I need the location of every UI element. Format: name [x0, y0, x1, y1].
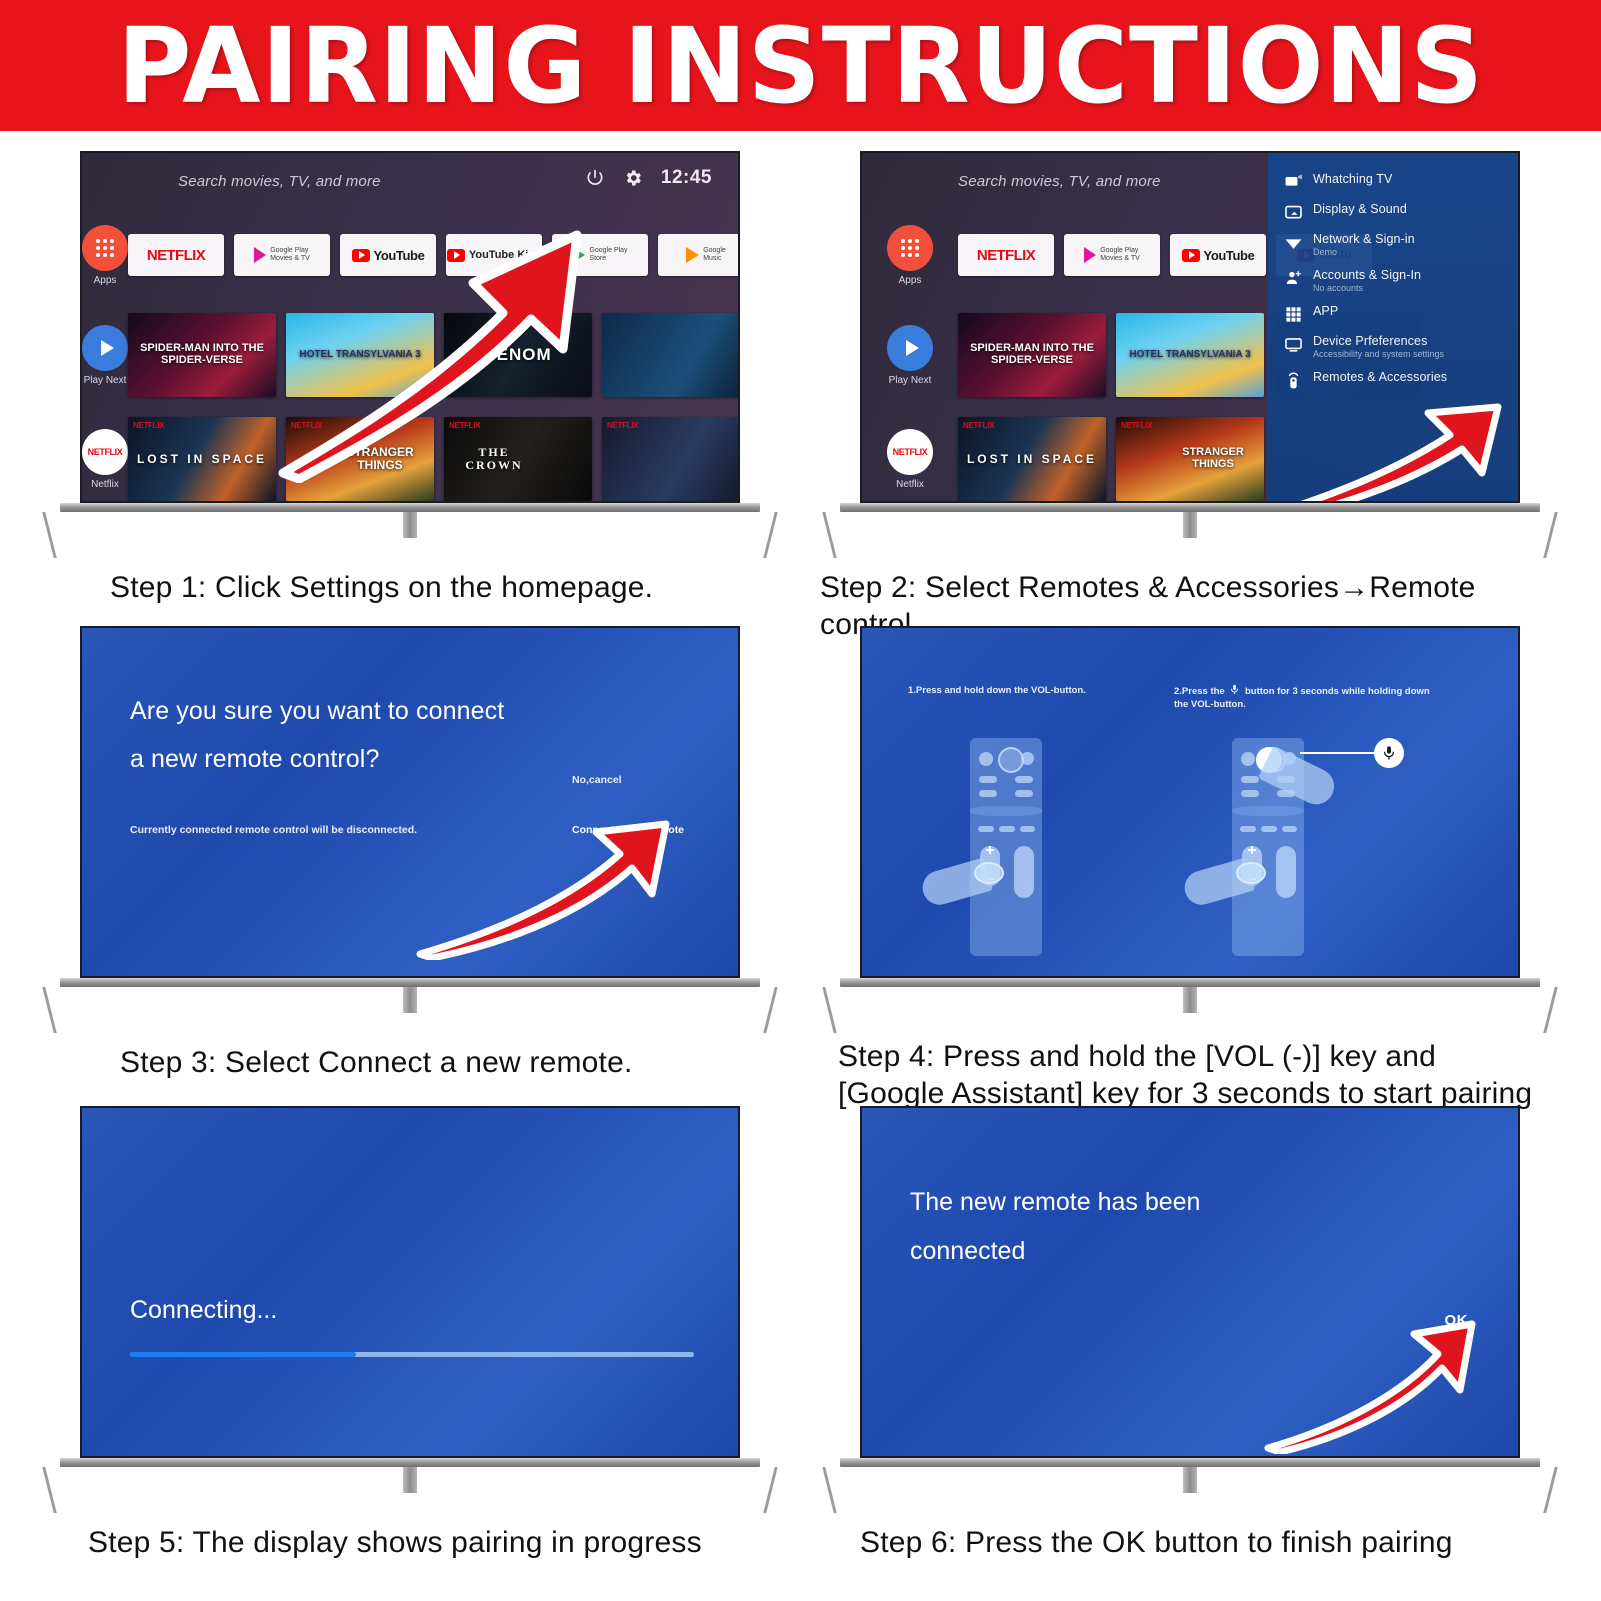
tv-bezel: [60, 1458, 760, 1467]
connecting-screen: Connecting...: [82, 1108, 738, 1456]
step-6-panel: The new remote has been connected OK Ste…: [820, 1106, 1560, 1596]
wifi-icon: [1284, 233, 1303, 252]
step-6-caption: Step 6: Press the OK button to finish pa…: [820, 1524, 1600, 1561]
netflix-wordmark: NETFLIX: [147, 247, 205, 264]
ok-button[interactable]: OK: [1445, 1312, 1469, 1329]
netflix-cards: NETFLIXLOST IN SPACE NETFLIXSTRANGER THI…: [128, 417, 740, 501]
step-3-panel: Are you sure you want to connect a new r…: [40, 626, 780, 1116]
tv-legs: [40, 512, 780, 558]
step-5-caption: Step 5: The display shows pairing in pro…: [40, 1524, 828, 1561]
tv-top-bar: Search movies, TV, and more 12:45: [82, 153, 738, 209]
netflix-wordmark: NETFLIX: [977, 247, 1035, 264]
tv-device: Search movies, TV, and more 12:45: [40, 151, 780, 558]
netflix-cards: NETFLIXLOST IN SPACE NETFLIXSTRANGER THI…: [958, 417, 1264, 501]
progress-bar: [130, 1352, 694, 1357]
menu-sublabel: No accounts: [1313, 283, 1421, 294]
step-1-panel: Search movies, TV, and more 12:45: [40, 151, 780, 641]
connect-dialog: Are you sure you want to connect a new r…: [82, 628, 738, 976]
tv-device: The new remote has been connected OK: [820, 1106, 1560, 1513]
connected-heading: The new remote has been connected: [910, 1178, 1200, 1276]
content-card[interactable]: NETFLIXSTRANGER THINGS: [286, 417, 434, 501]
cast-tv-icon: [1284, 173, 1303, 192]
play-next-rail: Play Next SPIDER-MAN INTO THE SPIDER-VER…: [82, 305, 738, 405]
cancel-button[interactable]: No,cancel: [572, 774, 622, 786]
callout-line: [1300, 752, 1378, 754]
play-movies-icon: [1084, 247, 1096, 263]
play-next-badge[interactable]: Play Next: [862, 325, 958, 386]
tv-screen: Connecting...: [80, 1106, 740, 1458]
netflix-icon: NETFLIX: [887, 429, 933, 475]
microphone-callout: [1374, 738, 1404, 768]
pairing-instruction-1: 1.Press and hold down the VOL-button.: [908, 684, 1123, 697]
youtube-icon: [352, 249, 370, 262]
tv-screen: The new remote has been connected OK: [860, 1106, 1520, 1458]
remote-illustration-2: [1232, 738, 1304, 956]
system-tray: 12:45: [585, 167, 712, 189]
content-card[interactable]: VENOM: [444, 313, 592, 397]
netflix-tag: NETFLIX: [963, 421, 994, 430]
progress-bar-fill: [130, 1352, 356, 1357]
play-next-label: Play Next: [84, 375, 127, 386]
content-card[interactable]: SPIDER-MAN INTO THE SPIDER-VERSE: [958, 313, 1106, 397]
step-1-caption: Step 1: Click Settings on the homepage.: [40, 569, 850, 606]
app-tiles: NETFLIX Google PlayMovies & TV YouTube Y…: [128, 234, 740, 276]
app-tile-youtube-kids[interactable]: YouTube Kids: [446, 234, 542, 276]
step-5-panel: Connecting... Step 5: The display shows …: [40, 1106, 780, 1596]
remote-icon: [1284, 371, 1303, 390]
play-store-icon: [572, 247, 585, 263]
apps-badge-label: Apps: [94, 275, 117, 286]
tv-screen: Search movies, TV, and more Apps NETFLIX…: [860, 151, 1520, 503]
app-tile-play-movies[interactable]: Google PlayMovies & TV: [1064, 234, 1160, 276]
connected-screen: The new remote has been connected OK: [862, 1108, 1518, 1456]
tv-legs: [820, 512, 1560, 558]
app-tile-play-store[interactable]: Google PlayStore: [552, 234, 648, 276]
tv-legs: [40, 987, 780, 1033]
netflix-icon: NETFLIX: [82, 429, 128, 475]
tv-bezel: [60, 978, 760, 987]
tv-bezel: [840, 503, 1540, 512]
content-card[interactable]: [602, 313, 740, 397]
menu-label: Accounts & Sign-In: [1313, 268, 1421, 283]
netflix-badge[interactable]: NETFLIX Netflix: [82, 429, 128, 490]
menu-item-network-signin[interactable]: Network & Sign-in Demo: [1268, 227, 1518, 263]
pairing-instruction-2: 2.Press the button for 3 seconds while h…: [1174, 684, 1444, 711]
connect-new-remote-button[interactable]: Connect a new remote: [572, 824, 684, 836]
menu-label: Device Prfeferences: [1313, 334, 1444, 349]
pairing-instruction-2-prefix: 2.Press the: [1174, 686, 1225, 697]
menu-item-remotes-accessories[interactable]: Remotes & Accessories: [1268, 365, 1518, 395]
netflix-tag: NETFLIX: [449, 421, 480, 430]
pairing-instruction-screen: 1.Press and hold down the VOL-button. 2.…: [862, 628, 1518, 976]
menu-item-watching-tv[interactable]: Whatching TV: [1268, 167, 1518, 197]
connecting-status: Connecting...: [130, 1296, 277, 1325]
tv-screen: Search movies, TV, and more 12:45: [80, 151, 740, 503]
android-tv-home: Search movies, TV, and more Apps NETFLIX…: [862, 153, 1518, 501]
menu-label: Network & Sign-in: [1313, 232, 1415, 247]
tv-legs: [820, 1467, 1560, 1513]
account-add-icon: [1284, 269, 1303, 288]
tv-device: Are you sure you want to connect a new r…: [40, 626, 780, 1033]
netflix-label: Netflix: [91, 479, 119, 490]
netflix-badge[interactable]: NETFLIX Netflix: [862, 429, 958, 490]
tv-device: Search movies, TV, and more Apps NETFLIX…: [820, 151, 1560, 558]
apps-grid-icon: [1284, 305, 1303, 324]
microphone-icon: [1381, 745, 1397, 761]
content-card[interactable]: NETFLIX: [602, 417, 740, 501]
app-tile-netflix[interactable]: NETFLIX: [958, 234, 1054, 276]
gear-icon[interactable]: [623, 168, 643, 188]
play-icon: [82, 325, 128, 371]
display-icon: [1284, 203, 1303, 222]
device-icon: [1284, 335, 1303, 354]
play-next-cards: SPIDER-MAN INTO THE SPIDER-VERSE HOTEL T…: [128, 313, 740, 397]
dialog-heading-line1: Are you sure you want to connect: [130, 688, 504, 736]
youtube-kids-icon: [447, 249, 465, 262]
app-tile-youtube[interactable]: YouTube: [340, 234, 436, 276]
menu-label: Whatching TV: [1313, 172, 1392, 187]
tv-screen: Are you sure you want to connect a new r…: [80, 626, 740, 978]
search-input[interactable]: Search movies, TV, and more: [958, 173, 1161, 190]
menu-item-display-sound[interactable]: Display & Sound: [1268, 197, 1518, 227]
apps-rail: Apps NETFLIX Google PlayMovies & TV YouT…: [82, 209, 738, 301]
app-tile-play-music[interactable]: GoogleMusic: [658, 234, 740, 276]
menu-sublabel: Accessibility and system settings: [1313, 349, 1444, 360]
menu-item-app[interactable]: APP: [1268, 299, 1518, 329]
content-card[interactable]: HOTEL TRANSYLVANIA 3: [1116, 313, 1264, 397]
dialog-heading: Are you sure you want to connect a new r…: [130, 688, 504, 783]
steps-grid: Search movies, TV, and more 12:45: [0, 131, 1601, 1601]
netflix-tag: NETFLIX: [607, 421, 638, 430]
step-4-caption-line1: Step 4: Press and hold the [VOL (-)] key…: [838, 1038, 1578, 1075]
tv-legs: [40, 1467, 780, 1513]
tv-bezel: [840, 978, 1540, 987]
menu-item-accounts-signin[interactable]: Accounts & Sign-In No accounts: [1268, 263, 1518, 299]
step-2-panel: Search movies, TV, and more Apps NETFLIX…: [820, 151, 1560, 641]
tv-bezel: [60, 503, 760, 512]
youtube-icon: [1182, 249, 1200, 262]
remote-illustration-1: [970, 738, 1042, 956]
page-title: PAIRING INSTRUCTIONS: [117, 14, 1484, 118]
connected-heading-line2: connected: [910, 1227, 1200, 1276]
clock: 12:45: [661, 167, 712, 189]
tv-screen: 1.Press and hold down the VOL-button. 2.…: [860, 626, 1520, 978]
tv-bezel: [840, 1458, 1540, 1467]
play-movies-icon: [254, 247, 266, 263]
menu-label: Display & Sound: [1313, 202, 1407, 217]
tv-legs: [820, 987, 1560, 1033]
content-card[interactable]: SPIDER-MAN INTO THE SPIDER-VERSE: [128, 313, 276, 397]
netflix-rail: NETFLIX Netflix NETFLIXLOST IN SPACE NET…: [82, 409, 738, 503]
apps-badge[interactable]: Apps: [82, 225, 128, 286]
android-tv-home: Search movies, TV, and more 12:45: [82, 153, 738, 501]
menu-item-device-preferences[interactable]: Device Prfeferences Accessibility and sy…: [1268, 329, 1518, 365]
dialog-note: Currently connected remote control will …: [130, 824, 417, 836]
netflix-tag: NETFLIX: [1121, 421, 1152, 430]
settings-menu: Whatching TV Display & Sound Network & S…: [1268, 153, 1518, 503]
content-card[interactable]: HOTEL TRANSYLVANIA 3: [286, 313, 434, 397]
play-icon: [887, 325, 933, 371]
content-card[interactable]: NETFLIXLOST IN SPACE: [958, 417, 1106, 501]
search-input[interactable]: Search movies, TV, and more: [178, 173, 381, 190]
netflix-tag: NETFLIX: [133, 421, 164, 430]
content-card[interactable]: NETFLIXTHE CROWN: [444, 417, 592, 501]
apps-grid-icon: [887, 225, 933, 271]
play-next-badge[interactable]: Play Next: [82, 325, 128, 386]
app-tile-play-movies[interactable]: Google PlayMovies & TV: [234, 234, 330, 276]
netflix-label: Netflix: [896, 479, 924, 490]
apps-badge-label: Apps: [899, 275, 922, 286]
play-music-icon: [686, 247, 699, 263]
app-tile-netflix[interactable]: NETFLIX: [128, 234, 224, 276]
netflix-tag: NETFLIX: [291, 421, 322, 430]
menu-label: APP: [1313, 304, 1338, 319]
content-card[interactable]: NETFLIXLOST IN SPACE: [128, 417, 276, 501]
menu-label: Remotes & Accessories: [1313, 370, 1447, 385]
apps-grid-icon: [82, 225, 128, 271]
step-4-panel: 1.Press and hold down the VOL-button. 2.…: [820, 626, 1560, 1116]
tv-device: 1.Press and hold down the VOL-button. 2.…: [820, 626, 1560, 1033]
step-3-caption: Step 3: Select Connect a new remote.: [40, 1044, 860, 1081]
content-card[interactable]: NETFLIXSTRANGER THINGS: [1116, 417, 1264, 501]
tv-device: Connecting...: [40, 1106, 780, 1513]
header-banner: PAIRING INSTRUCTIONS: [0, 0, 1601, 131]
apps-badge[interactable]: Apps: [862, 225, 958, 286]
play-next-label: Play Next: [889, 375, 932, 386]
power-input-icon[interactable]: [585, 168, 605, 188]
step-4-caption: Step 4: Press and hold the [VOL (-)] key…: [820, 1038, 1578, 1112]
microphone-icon: [1229, 684, 1240, 695]
dialog-heading-line2: a new remote control?: [130, 736, 504, 784]
app-tile-youtube[interactable]: YouTube: [1170, 234, 1266, 276]
connected-heading-line1: The new remote has been: [910, 1178, 1200, 1227]
menu-sublabel: Demo: [1313, 247, 1415, 258]
